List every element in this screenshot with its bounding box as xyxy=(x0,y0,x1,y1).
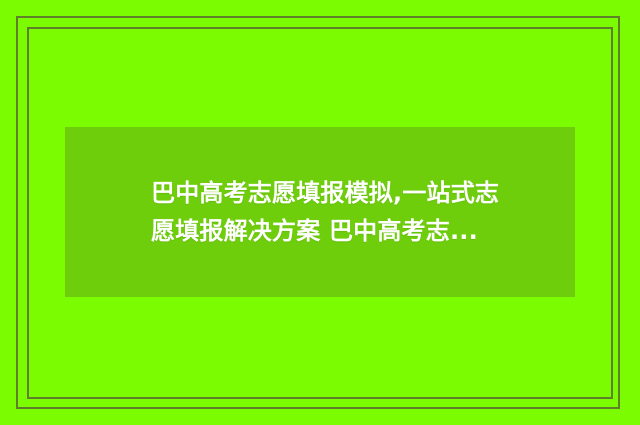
screenshot-canvas: 巴中高考志愿填报模拟,一站式志愿填报解决方案 巴中高考志... xyxy=(0,0,640,425)
caption-panel: 巴中高考志愿填报模拟,一站式志愿填报解决方案 巴中高考志... xyxy=(65,127,575,297)
caption-title-text: 巴中高考志愿填报模拟,一站式志愿填报解决方案 巴中高考志... xyxy=(151,174,503,250)
